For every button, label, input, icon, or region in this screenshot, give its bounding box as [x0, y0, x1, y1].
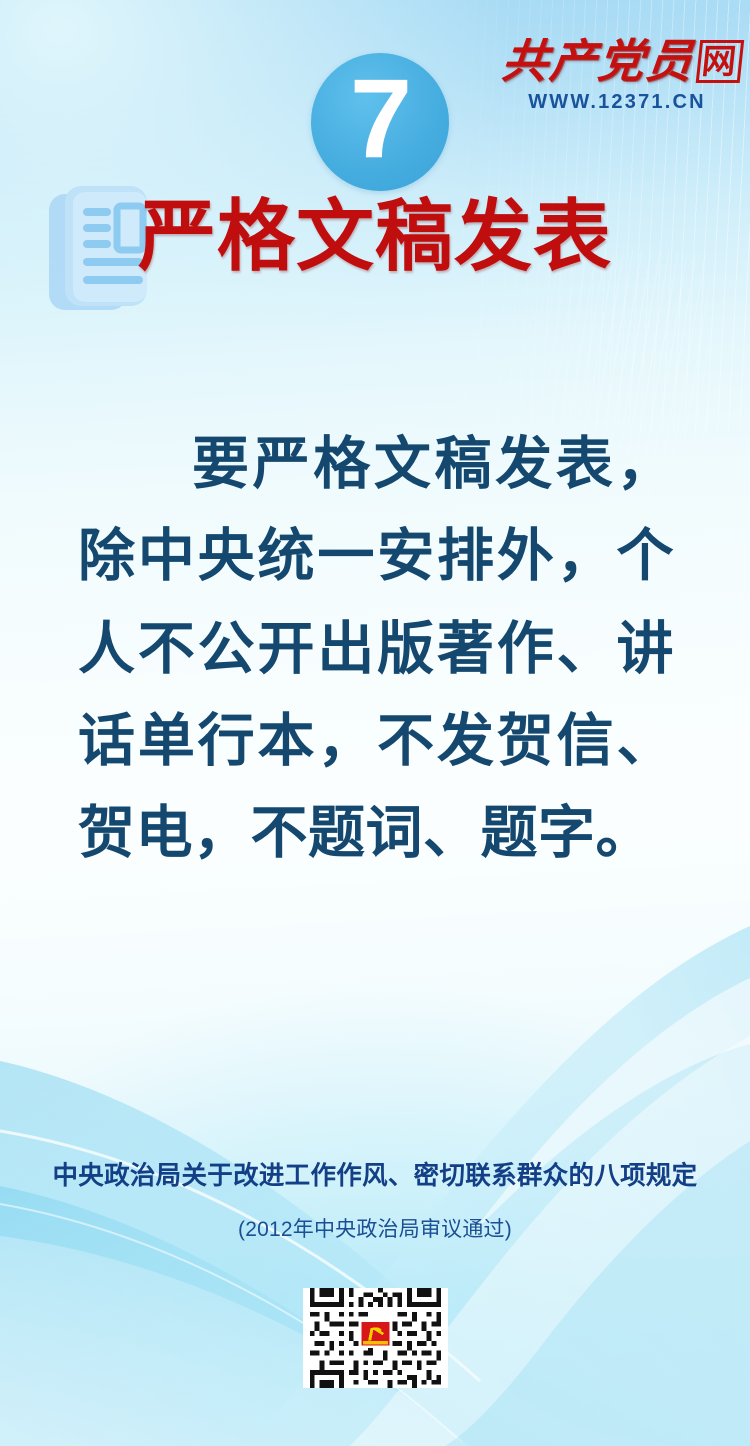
footer-regulation-subtitle: (2012年中央政治局审议通过)	[0, 1213, 750, 1243]
number-badge-value: 7	[350, 63, 410, 175]
logo-boxed-char: 网	[696, 40, 745, 83]
logo-wordmark: 共产党员网	[500, 38, 735, 84]
site-logo[interactable]: 共产党员网 WWW.12371.CN	[502, 38, 732, 114]
body-paragraph: 要严格文稿发表，除中央统一安排外，个人不公开出版著作、讲话单行本，不发贺信、贺电…	[78, 418, 674, 880]
footer-regulation-title: 中央政治局关于改进工作作风、密切联系群众的八项规定	[0, 1155, 750, 1192]
qr-code-image	[305, 1288, 446, 1388]
qr-code[interactable]	[303, 1288, 448, 1388]
logo-script-text: 共产党员	[499, 34, 697, 88]
page-title: 严格文稿发表	[138, 196, 612, 279]
logo-url-text: WWW.12371.CN	[502, 91, 732, 114]
party-emblem-icon	[358, 1319, 392, 1348]
poster-canvas: 共产党员网 WWW.12371.CN 7 严格文稿发表 要严格文稿发表，除中央统…	[0, 0, 750, 1446]
number-badge: 7	[311, 53, 449, 191]
